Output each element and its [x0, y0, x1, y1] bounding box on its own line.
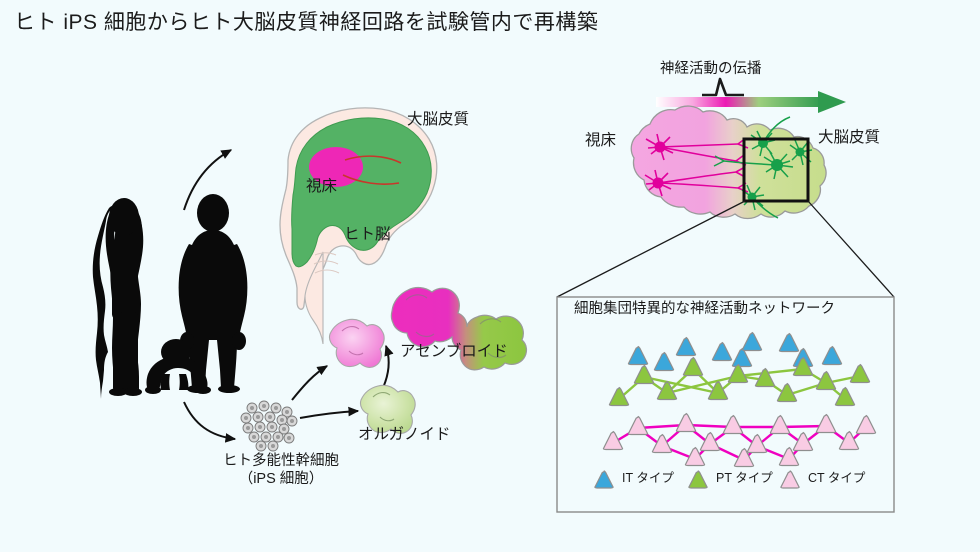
legend-label-pt: PT タイプ	[716, 471, 773, 487]
label-neural-propagation: 神経活動の伝播	[660, 60, 762, 78]
pink-organoid	[329, 319, 384, 367]
label-ips-line2: （iPS 細胞）	[206, 470, 356, 488]
arrow-people-to-ips	[184, 402, 235, 439]
network-panel-title: 細胞集団特異的な神経活動ネットワーク	[574, 300, 835, 318]
legend-label-ct: CT タイプ	[808, 471, 865, 487]
figure-graphics	[0, 0, 980, 552]
label-cerebral-cortex-brain: 大脳皮質	[407, 110, 469, 129]
label-ips-line1: ヒト多能性幹細胞	[206, 452, 356, 470]
arrow-ips-to-pink-organoid	[292, 366, 327, 400]
label-ips-cells: ヒト多能性幹細胞 （iPS 細胞）	[206, 452, 356, 488]
assembloid-blob	[631, 106, 826, 218]
figure-canvas: ヒト iPS 細胞からヒト大脳皮質神経回路を試験管内で再構築 大脳皮質 視床 ヒ…	[0, 0, 980, 552]
page-title: ヒト iPS 細胞からヒト大脳皮質神経回路を試験管内で再構築	[14, 10, 598, 36]
label-assembloid: アセンブロイド	[400, 342, 508, 361]
label-human-brain: ヒト脳	[344, 225, 391, 244]
ips-cell-colony	[241, 401, 297, 451]
legend-label-it: IT タイプ	[622, 471, 674, 487]
arrow-ips-to-green-organoid	[300, 411, 358, 418]
arrow-organoid-to-assembloid	[382, 346, 389, 390]
callout-line-right	[808, 201, 894, 297]
human-silhouettes	[93, 194, 248, 399]
label-cortex-assembloid: 大脳皮質	[818, 128, 880, 147]
label-thalamus-brain: 視床	[306, 177, 337, 196]
spike-waveform	[702, 79, 744, 95]
label-thalamus-assembloid: 視床	[585, 131, 616, 150]
callout-line-left	[557, 201, 745, 297]
label-organoid: オルガノイド	[358, 425, 451, 444]
